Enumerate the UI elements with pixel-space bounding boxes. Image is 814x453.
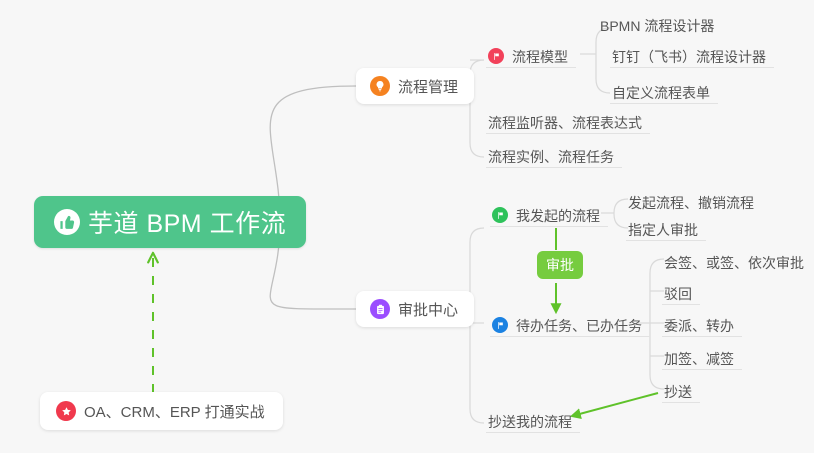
node-integration-practice[interactable]: OA、CRM、ERP 打通实战: [40, 392, 283, 430]
node-designated-approver[interactable]: 指定人审批: [626, 213, 706, 241]
node-countersign-orsign-sequential[interactable]: 会签、或签、依次审批: [662, 245, 812, 273]
node-start-cancel-process[interactable]: 发起流程、撤销流程: [626, 185, 762, 213]
mindmap-canvas: 芋道 BPM 工作流 流程管理 流程模型 B: [0, 0, 814, 453]
node-designated-approver-label: 指定人审批: [628, 223, 698, 237]
root-node[interactable]: 芋道 BPM 工作流: [34, 196, 306, 248]
node-cc-to-me-process[interactable]: 抄送我的流程: [486, 405, 580, 433]
clipboard-icon: [370, 299, 390, 319]
node-dingtalk-feishu-designer-label: 钉钉（飞书）流程设计器: [612, 50, 766, 64]
node-countersign-orsign-sequential-label: 会签、或签、依次审批: [664, 256, 804, 270]
annotation-approve-tag-label: 审批: [546, 255, 574, 275]
node-dingtalk-feishu-designer[interactable]: 钉钉（飞书）流程设计器: [610, 40, 774, 68]
lightbulb-icon: [370, 76, 390, 96]
node-process-model-label: 流程模型: [512, 50, 568, 64]
edge-process-model-spine: [596, 28, 610, 93]
node-bpmn-designer[interactable]: BPMN 流程设计器: [598, 8, 722, 36]
flag-icon: [492, 317, 508, 333]
flag-icon: [492, 207, 508, 223]
annotation-arrow-cc-to-my-process: [572, 393, 658, 416]
node-my-initiated-process-label: 我发起的流程: [516, 209, 600, 223]
node-process-model[interactable]: 流程模型: [486, 40, 576, 68]
branch-node-approval-center[interactable]: 审批中心: [356, 291, 474, 327]
node-process-instance-task[interactable]: 流程实例、流程任务: [486, 140, 622, 168]
node-my-initiated-process[interactable]: 我发起的流程: [490, 199, 608, 227]
node-add-remove-sign[interactable]: 加签、减签: [662, 342, 742, 370]
thumbs-up-icon: [54, 209, 80, 235]
annotation-approve-tag[interactable]: 审批: [537, 251, 583, 279]
branch-node-approval-center-label: 审批中心: [398, 299, 458, 320]
node-delegate-transfer[interactable]: 委派、转办: [662, 309, 742, 337]
node-delegate-transfer-label: 委派、转办: [664, 319, 734, 333]
node-cc[interactable]: 抄送: [662, 375, 700, 403]
node-process-listener-expression-label: 流程监听器、流程表达式: [488, 116, 642, 130]
node-reject[interactable]: 驳回: [662, 277, 700, 305]
node-cc-to-me-process-label: 抄送我的流程: [488, 415, 572, 429]
node-process-listener-expression[interactable]: 流程监听器、流程表达式: [486, 106, 650, 134]
node-integration-practice-label: OA、CRM、ERP 打通实战: [84, 401, 265, 422]
node-todo-done-tasks-label: 待办任务、已办任务: [516, 319, 642, 333]
node-custom-process-form[interactable]: 自定义流程表单: [610, 76, 718, 104]
branch-node-process-management[interactable]: 流程管理: [356, 68, 474, 104]
node-start-cancel-process-label: 发起流程、撤销流程: [628, 196, 754, 210]
root-node-label: 芋道 BPM 工作流: [88, 204, 286, 240]
node-reject-label: 驳回: [664, 287, 692, 301]
node-add-remove-sign-label: 加签、减签: [664, 352, 734, 366]
node-todo-done-tasks[interactable]: 待办任务、已办任务: [490, 309, 650, 337]
branch-node-process-management-label: 流程管理: [398, 76, 458, 97]
edge-approval-center-spine: [470, 228, 484, 423]
node-custom-process-form-label: 自定义流程表单: [612, 86, 710, 100]
node-cc-label: 抄送: [664, 385, 692, 399]
node-process-instance-task-label: 流程实例、流程任务: [488, 150, 614, 164]
node-bpmn-designer-label: BPMN 流程设计器: [600, 19, 714, 33]
flag-icon: [488, 48, 504, 64]
star-icon: [56, 401, 76, 421]
